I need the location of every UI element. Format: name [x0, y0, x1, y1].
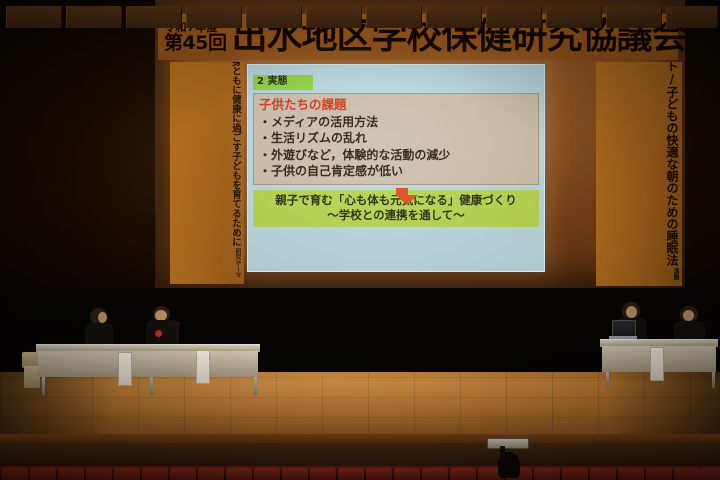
house-wall-panel [66, 6, 122, 28]
house-wall-panel [246, 6, 302, 28]
lecture-topic-text: 笑顔でスタート/子どもの快適な朝のための睡眠法 [665, 62, 678, 266]
audience-seat [366, 468, 393, 480]
house-wall-panel [546, 6, 602, 28]
slide-content-box: 子供たちの課題 ・メディアの活用方法 ・生活リズムの乱れ ・外遊びなど，体験的な… [253, 93, 539, 185]
panelist-nameplate [650, 347, 664, 381]
panelist-face [626, 306, 637, 318]
house-wall-panel [366, 6, 422, 28]
audience-seat [142, 468, 169, 480]
audience-seat [86, 468, 113, 480]
house-wall-panel [6, 6, 62, 28]
audience-seat [254, 468, 281, 480]
table-leg [150, 377, 153, 395]
table-leg [606, 372, 609, 388]
table-flower [155, 330, 162, 337]
house-wall-panel [606, 6, 662, 28]
slide-bullet-1: ・メディアの活用方法 [259, 114, 533, 131]
house-wall-panel [186, 6, 242, 28]
house-wall-panel [486, 6, 542, 28]
house-wall-panel [306, 6, 362, 28]
slide-bullet-3: ・外遊びなど，体験的な活動の減少 [259, 147, 533, 164]
panelist-face [683, 310, 694, 321]
control-desk-pole [500, 446, 505, 464]
slide-bullet-2: ・生活リズムの乱れ [259, 130, 533, 147]
audience-seat [170, 468, 197, 480]
research-theme-line1: 心身ともに健康に過ごす子どもを育てるために [230, 62, 240, 246]
house-wall-panel [666, 6, 718, 28]
research-theme-poster: 研究テーマ 心身ともに健康に過ごす子どもを育てるために 学校・家庭・地域のかかわ… [170, 62, 244, 284]
table-leg [42, 377, 45, 395]
microphone-head [170, 322, 180, 325]
stage-floor [0, 372, 720, 438]
audience-seat [646, 468, 673, 480]
audience-seat [562, 468, 589, 480]
arrow-head [396, 195, 418, 205]
audience-seat [338, 468, 365, 480]
slide-footer-line2: 〜学校との連携を通して〜 [255, 208, 537, 223]
audience-seat [30, 468, 57, 480]
table-leg [254, 377, 257, 395]
slide-box-title: 子供たちの課題 [259, 97, 533, 113]
audience-seat [618, 468, 645, 480]
audience-seat [282, 468, 309, 480]
banner-edition-number: 第45回 [164, 34, 226, 53]
lecture-topic-poster: 演題 笑顔でスタート/子どもの快適な朝のための睡眠法 睡眠サポート指導士 上級睡… [596, 62, 682, 286]
panelist-face [98, 312, 107, 323]
projected-slide: 2 実態 子供たちの課題 ・メディアの活用方法 ・生活リズムの乱れ ・外遊びなど… [247, 64, 545, 272]
audience-seat [674, 468, 701, 480]
slide-section-header: 2 実態 [253, 75, 313, 90]
table-leg [712, 372, 715, 388]
lecture-label: 演題 [672, 268, 678, 280]
audience-seat [534, 468, 561, 480]
research-theme-label: 研究テーマ [234, 248, 240, 278]
panel-table-left-skirt [38, 351, 258, 377]
slide-bullet-4: ・子供の自己肯定感が低い [259, 163, 533, 180]
audience-seat [590, 468, 617, 480]
audience-seat [422, 468, 449, 480]
audience-seat [700, 468, 720, 480]
panelist-nameplate [118, 352, 132, 386]
arrow-stem [396, 188, 408, 195]
house-wall-panel [126, 6, 182, 28]
panelist-nameplate [196, 350, 210, 384]
audience-seat [198, 468, 225, 480]
audience-seat [310, 468, 337, 480]
microphone-stand [176, 324, 179, 342]
audience-seat [114, 468, 141, 480]
house-wall-panel [426, 6, 482, 28]
audience-seat [450, 468, 477, 480]
audience-seat [394, 468, 421, 480]
audience-seat [2, 468, 29, 480]
audience-seat [58, 468, 85, 480]
audience-seat [226, 468, 253, 480]
control-desk-surface [487, 438, 529, 449]
conference-hall-photo: 令和7年度 第45回 出水地区学校保健研究協議会 研究テーマ 心身ともに健康に過… [0, 0, 720, 480]
